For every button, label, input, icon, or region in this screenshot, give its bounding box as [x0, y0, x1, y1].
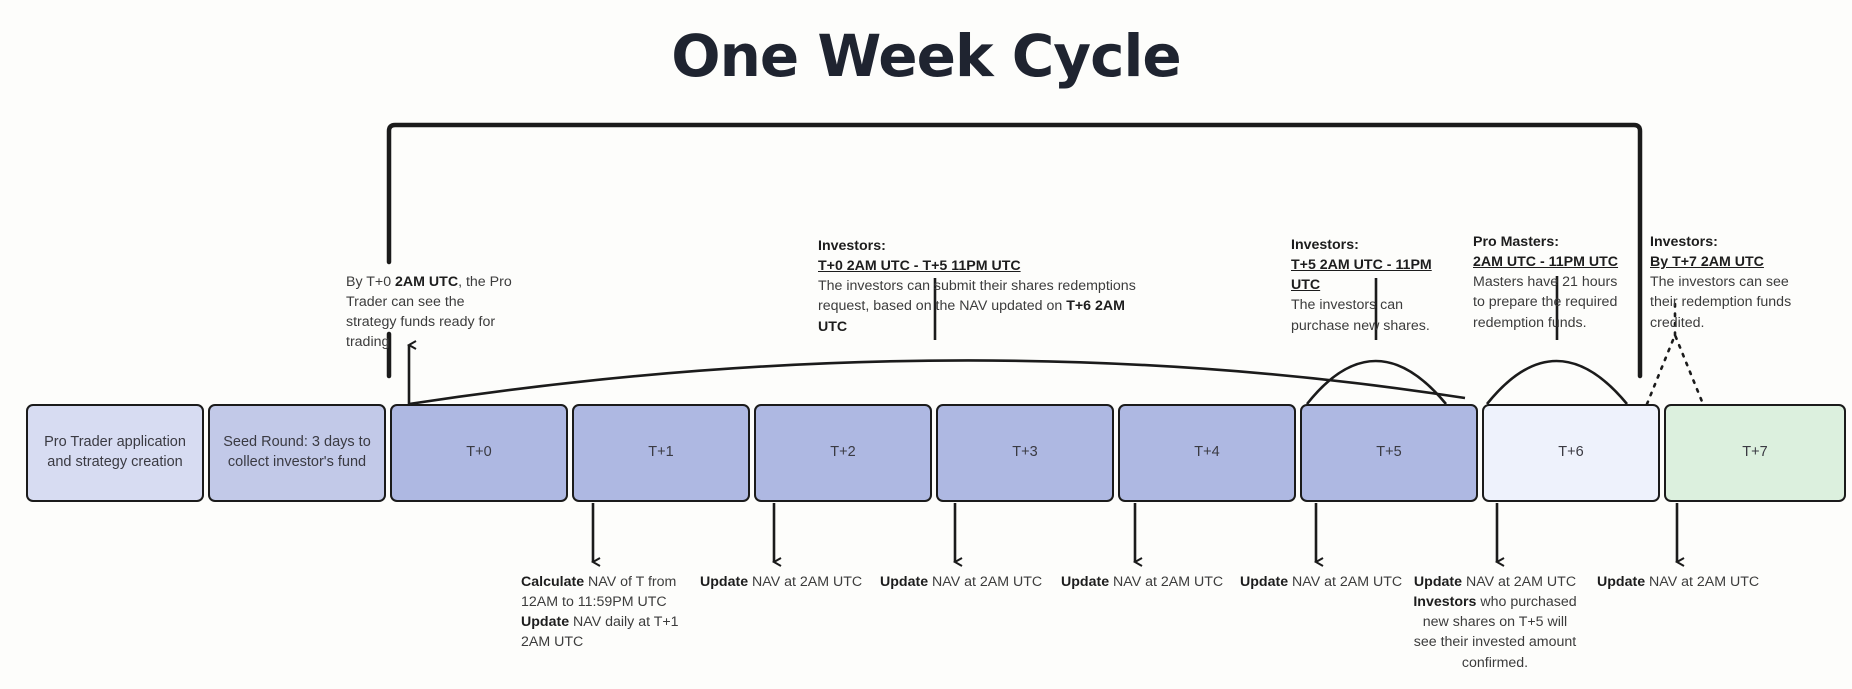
note-investors-redemption-heading: Investors: [818, 236, 1148, 256]
note-pro-masters-period: 2AM UTC - 11PM UTC [1473, 254, 1618, 270]
timeline-box-label: T+2 [830, 443, 855, 463]
timeline-box-t-plus-5[interactable]: T+5 [1300, 404, 1478, 502]
timeline-box-t-plus-0[interactable]: T+0 [390, 404, 568, 502]
note-investors-purchase: Investors: T+5 2AM UTC - 11PM UTC The in… [1291, 235, 1459, 336]
redemption-window-arc [409, 360, 1465, 404]
timeline-box-label: Seed Round: 3 days to collect investor's… [218, 433, 376, 472]
note-investors-credited-heading: Investors: [1650, 232, 1802, 252]
note-bottom-t4: Update NAV at 2AM UTC [1240, 572, 1410, 592]
note-pro-trader-l1a: By T+0 [346, 274, 395, 290]
note-bottom-t0-bold-1: Calculate [521, 574, 584, 590]
timeline-box-label: T+6 [1558, 443, 1583, 463]
timeline-box-t-plus-3[interactable]: T+3 [936, 404, 1114, 502]
timeline-box-seed-round[interactable]: Seed Round: 3 days to collect investor's… [208, 404, 386, 502]
timeline-box-label: T+0 [466, 443, 491, 463]
note-investors-purchase-heading: Investors: [1291, 235, 1459, 255]
timeline-box-label: T+5 [1376, 443, 1401, 463]
note-pro-trader: By T+0 2AM UTC, the Pro Trader can see t… [346, 272, 516, 353]
note-bottom-t2-text: NAV at 2AM UTC [928, 574, 1042, 590]
note-bottom-t6-bold-1: Update [1414, 574, 1462, 590]
note-bottom-t1: Update NAV at 2AM UTC [700, 572, 870, 592]
note-bottom-t3-bold: Update [1061, 574, 1109, 590]
note-bottom-t7-text: NAV at 2AM UTC [1645, 574, 1759, 590]
diagram-canvas: One Week Cycle [0, 0, 1852, 689]
timeline-box-pro-trader-application[interactable]: Pro Trader application and strategy crea… [26, 404, 204, 502]
note-bottom-t7-bold: Update [1597, 574, 1645, 590]
note-bottom-t2-bold: Update [880, 574, 928, 590]
note-investors-credited-period: By T+7 2AM UTC [1650, 254, 1764, 270]
timeline-box-label: T+7 [1742, 443, 1767, 463]
note-bottom-t7: Update NAV at 2AM UTC [1597, 572, 1772, 592]
timeline-box-t-plus-4[interactable]: T+4 [1118, 404, 1296, 502]
note-bottom-t6-text-1: NAV at 2AM UTC [1462, 574, 1576, 590]
t7-dotted-connector [1647, 335, 1703, 404]
timeline-box-t-plus-1[interactable]: T+1 [572, 404, 750, 502]
note-bottom-t4-bold: Update [1240, 574, 1288, 590]
note-investors-redemption-period: T+0 2AM UTC - T+5 11PM UTC [818, 258, 1021, 274]
timeline-box-t-plus-6[interactable]: T+6 [1482, 404, 1660, 502]
timeline-box-label: T+1 [648, 443, 673, 463]
note-bottom-t2: Update NAV at 2AM UTC [880, 572, 1050, 592]
note-investors-redemption-body-b: request, based on the NAV updated on [818, 298, 1066, 314]
note-bottom-t0: Calculate NAV of T from 12AM to 11:59PM … [521, 572, 681, 653]
note-bottom-t1-text: NAV at 2AM UTC [748, 574, 862, 590]
timeline-box-t-plus-7[interactable]: T+7 [1664, 404, 1846, 502]
timeline-box-label: Pro Trader application and strategy crea… [36, 433, 194, 472]
note-pro-trader-bold: 2AM UTC [395, 274, 458, 290]
note-pro-masters: Pro Masters: 2AM UTC - 11PM UTC Masters … [1473, 232, 1633, 333]
note-investors-credited: Investors: By T+7 2AM UTC The investors … [1650, 232, 1802, 333]
note-investors-redemption-body-a: The investors can submit their shares re… [818, 276, 1148, 296]
note-bottom-t1-bold: Update [700, 574, 748, 590]
timeline-box-label: T+4 [1194, 443, 1219, 463]
note-bottom-t3: Update NAV at 2AM UTC [1061, 572, 1231, 592]
note-investors-redemption: Investors: T+0 2AM UTC - T+5 11PM UTC Th… [818, 236, 1148, 337]
note-pro-masters-heading: Pro Masters: [1473, 232, 1633, 252]
timeline-box-t-plus-2[interactable]: T+2 [754, 404, 932, 502]
page-title: One Week Cycle [0, 22, 1852, 90]
note-bottom-t6-bold-2: Investors [1413, 594, 1476, 610]
note-investors-purchase-period: T+5 2AM UTC - 11PM UTC [1291, 257, 1432, 293]
note-pro-trader-l1c: , the Pro [458, 274, 512, 290]
note-bottom-t6: Update NAV at 2AM UTC Investors who purc… [1410, 572, 1580, 673]
note-bottom-t4-text: NAV at 2AM UTC [1288, 574, 1402, 590]
note-investors-purchase-body: The investors can purchase new shares. [1291, 295, 1459, 335]
t5-arc [1307, 361, 1446, 404]
timeline-box-label: T+3 [1012, 443, 1037, 463]
note-bottom-t0-bold-2: Update [521, 614, 569, 630]
note-bottom-t3-text: NAV at 2AM UTC [1109, 574, 1223, 590]
note-pro-masters-body: Masters have 21 hours to prepare the req… [1473, 272, 1633, 332]
t6-arc [1487, 361, 1627, 404]
note-investors-credited-body: The investors can see their redemption f… [1650, 272, 1802, 332]
